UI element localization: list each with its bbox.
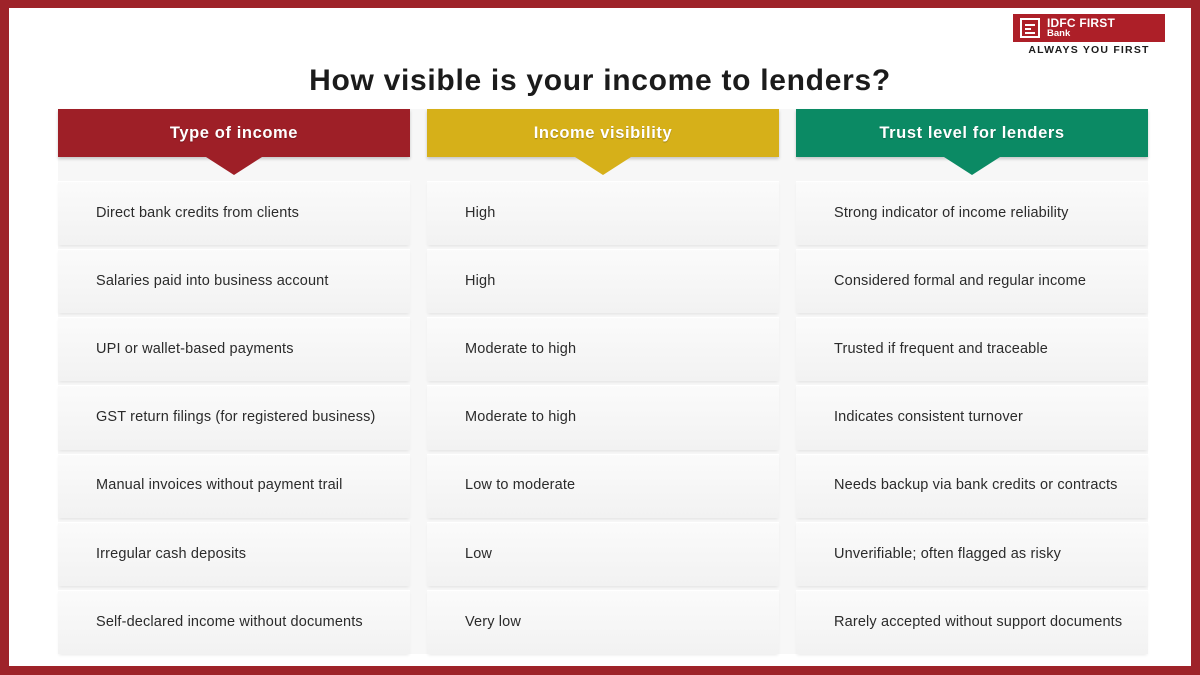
cell-text: Salaries paid into business account (96, 272, 329, 291)
cell-text: Unverifiable; often flagged as risky (834, 545, 1061, 564)
cell-text: Manual invoices without payment trail (96, 476, 343, 495)
table-cell: Needs backup via bank credits or contrac… (796, 454, 1148, 518)
table-cell: Salaries paid into business account (58, 249, 410, 313)
table-cell: Rarely accepted without support document… (796, 590, 1148, 654)
table-cell: Irregular cash deposits (58, 522, 410, 586)
brand-logo: IDFC FIRST Bank ALWAYS YOU FIRST (1013, 14, 1165, 56)
table-cell: Strong indicator of income reliability (796, 181, 1148, 245)
cell-text: Low to moderate (465, 476, 575, 495)
slide: IDFC FIRST Bank ALWAYS YOU FIRST How vis… (9, 8, 1191, 666)
column-header-type-of-income: Type of income (58, 109, 410, 157)
cell-text: Strong indicator of income reliability (834, 204, 1069, 223)
cell-text: Considered formal and regular income (834, 272, 1086, 291)
cell-text: Rarely accepted without support document… (834, 613, 1122, 632)
slide-frame: IDFC FIRST Bank ALWAYS YOU FIRST How vis… (0, 0, 1200, 675)
table-column-income-visibility: Income visibility High High Moderate to … (427, 109, 779, 654)
cell-text: High (465, 272, 495, 291)
cell-text: Direct bank credits from clients (96, 204, 299, 223)
cell-text: Irregular cash deposits (96, 545, 246, 564)
table-cell: Considered formal and regular income (796, 249, 1148, 313)
logo-wordmark: IDFC FIRST Bank (1047, 17, 1115, 39)
idfc-f-mark-icon (1020, 18, 1040, 38)
cell-text: Trusted if frequent and traceable (834, 340, 1048, 359)
table-cell: Low (427, 522, 779, 586)
table-cell: Trusted if frequent and traceable (796, 317, 1148, 381)
table-cell: Moderate to high (427, 385, 779, 449)
table-cell: High (427, 249, 779, 313)
logo-tagline: ALWAYS YOU FIRST (1013, 44, 1165, 56)
table-cell: GST return filings (for registered busin… (58, 385, 410, 449)
table-column-trust-level: Trust level for lenders Strong indicator… (796, 109, 1148, 654)
comparison-table: Type of income Direct bank credits from … (58, 109, 1148, 654)
column-header-label: Trust level for lenders (879, 124, 1064, 143)
cell-text: GST return filings (for registered busin… (96, 408, 376, 427)
logo-name-line2: Bank (1047, 29, 1115, 39)
cell-text: Moderate to high (465, 408, 576, 427)
cell-text: Self-declared income without documents (96, 613, 363, 632)
table-cell: Direct bank credits from clients (58, 181, 410, 245)
cell-text: UPI or wallet-based payments (96, 340, 294, 359)
table-cell: Low to moderate (427, 454, 779, 518)
column-cells: High High Moderate to high Moderate to h… (427, 157, 779, 654)
column-header-income-visibility: Income visibility (427, 109, 779, 157)
cell-text: Indicates consistent turnover (834, 408, 1023, 427)
column-header-label: Income visibility (534, 124, 673, 143)
cell-text: Needs backup via bank credits or contrac… (834, 476, 1118, 495)
cell-text: High (465, 204, 495, 223)
column-header-trust-level: Trust level for lenders (796, 109, 1148, 157)
column-cells: Strong indicator of income reliability C… (796, 157, 1148, 654)
column-cells: Direct bank credits from clients Salarie… (58, 157, 410, 654)
table-cell: Indicates consistent turnover (796, 385, 1148, 449)
table-cell: Moderate to high (427, 317, 779, 381)
table-cell: Unverifiable; often flagged as risky (796, 522, 1148, 586)
page-title: How visible is your income to lenders? (9, 64, 1191, 98)
cell-text: Moderate to high (465, 340, 576, 359)
table-column-type-of-income: Type of income Direct bank credits from … (58, 109, 410, 654)
table-cell: Self-declared income without documents (58, 590, 410, 654)
table-cell: UPI or wallet-based payments (58, 317, 410, 381)
column-header-label: Type of income (170, 124, 298, 143)
table-cell: Very low (427, 590, 779, 654)
table-cell: High (427, 181, 779, 245)
cell-text: Very low (465, 613, 521, 632)
table-cell: Manual invoices without payment trail (58, 454, 410, 518)
logo-bar: IDFC FIRST Bank (1013, 14, 1165, 42)
cell-text: Low (465, 545, 492, 564)
